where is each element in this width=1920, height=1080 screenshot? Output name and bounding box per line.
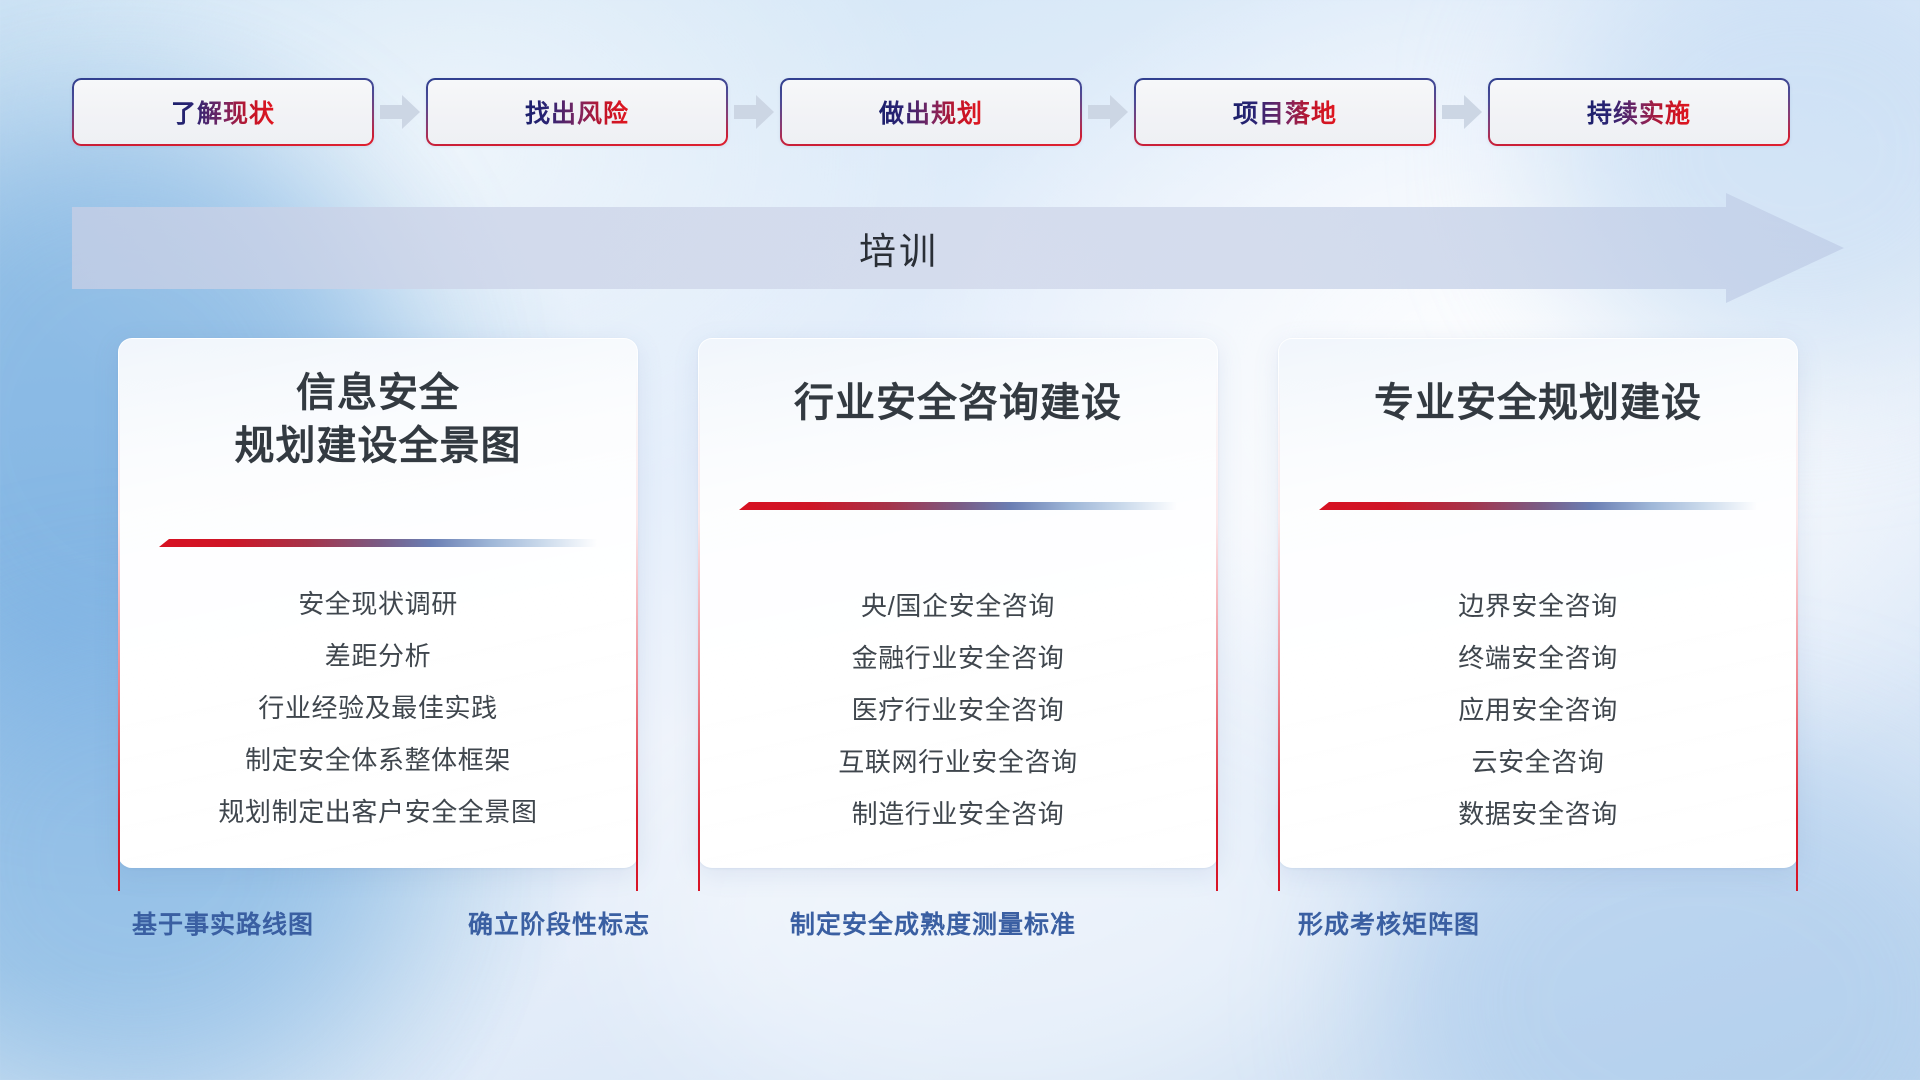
process-step-5-label: 持续实施 bbox=[1587, 94, 1691, 130]
list-item: 数据安全咨询 bbox=[1458, 797, 1618, 832]
card-3-divider bbox=[1319, 502, 1757, 510]
process-step-1[interactable]: 了解现状 bbox=[72, 78, 374, 146]
process-arrow-icon-2 bbox=[728, 78, 780, 146]
process-arrow-icon-1 bbox=[374, 78, 426, 146]
footer-label-4: 形成考核矩阵图 bbox=[1298, 905, 1480, 941]
process-step-5[interactable]: 持续实施 bbox=[1488, 78, 1790, 146]
footer-label-row: 基于事实路线图 确立阶段性标志 制定安全成熟度测量标准 形成考核矩阵图 bbox=[0, 905, 1920, 965]
process-step-4[interactable]: 项目落地 bbox=[1134, 78, 1436, 146]
card-1-divider bbox=[159, 539, 597, 547]
list-item: 互联网行业安全咨询 bbox=[838, 745, 1077, 780]
background-glow-right-top bbox=[1540, 0, 1920, 380]
process-arrow-icon-3 bbox=[1082, 78, 1134, 146]
list-item: 制定安全体系整体框架 bbox=[245, 743, 511, 778]
list-item: 医疗行业安全咨询 bbox=[852, 693, 1065, 728]
process-step-3[interactable]: 做出规划 bbox=[780, 78, 1082, 146]
card-2-list: 央/国企安全咨询 金融行业安全咨询 医疗行业安全咨询 互联网行业安全咨询 制造行… bbox=[723, 589, 1193, 832]
list-item: 应用安全咨询 bbox=[1458, 693, 1618, 728]
process-step-2-label: 找出风险 bbox=[525, 94, 629, 130]
list-item: 规划制定出客户安全全景图 bbox=[218, 795, 537, 830]
card-information-security-blueprint[interactable]: 信息安全 规划建设全景图 安全现状调研 差距分析 行业经验及最佳实践 制定安全体… bbox=[118, 338, 638, 868]
list-item: 行业经验及最佳实践 bbox=[258, 691, 497, 726]
list-item: 差距分析 bbox=[325, 639, 431, 674]
list-item: 云安全咨询 bbox=[1471, 745, 1604, 780]
process-step-1-label: 了解现状 bbox=[171, 94, 275, 130]
training-banner: 培训 bbox=[72, 193, 1844, 303]
card-1-title: 信息安全 规划建设全景图 bbox=[119, 367, 637, 473]
list-item: 安全现状调研 bbox=[298, 587, 458, 622]
process-flow: 了解现状 找出风险 做出规划 项目落地 持续实施 bbox=[72, 78, 1852, 146]
list-item: 制造行业安全咨询 bbox=[852, 797, 1065, 832]
card-1-list: 安全现状调研 差距分析 行业经验及最佳实践 制定安全体系整体框架 规划制定出客户… bbox=[143, 587, 613, 830]
process-step-4-label: 项目落地 bbox=[1233, 94, 1337, 130]
process-arrow-icon-4 bbox=[1436, 78, 1488, 146]
card-3-title-line1: 专业安全规划建设 bbox=[1279, 377, 1797, 430]
list-item: 央/国企安全咨询 bbox=[861, 589, 1055, 624]
banner-title: 培训 bbox=[72, 193, 1726, 303]
footer-label-3: 制定安全成熟度测量标准 bbox=[790, 905, 1076, 941]
footer-label-1: 基于事实路线图 bbox=[132, 905, 314, 941]
card-industry-security-consulting[interactable]: 行业安全咨询建设 央/国企安全咨询 金融行业安全咨询 医疗行业安全咨询 互联网行… bbox=[698, 338, 1218, 868]
card-2-divider bbox=[739, 502, 1177, 510]
card-1-title-line2: 规划建设全景图 bbox=[119, 420, 637, 473]
card-group: 信息安全 规划建设全景图 安全现状调研 差距分析 行业经验及最佳实践 制定安全体… bbox=[0, 338, 1920, 868]
card-professional-security-planning[interactable]: 专业安全规划建设 边界安全咨询 终端安全咨询 应用安全咨询 云安全咨询 数据安全… bbox=[1278, 338, 1798, 868]
card-2-title-line1: 行业安全咨询建设 bbox=[699, 377, 1217, 430]
process-step-2[interactable]: 找出风险 bbox=[426, 78, 728, 146]
list-item: 边界安全咨询 bbox=[1458, 589, 1618, 624]
list-item: 终端安全咨询 bbox=[1458, 641, 1618, 676]
card-3-title: 专业安全规划建设 bbox=[1279, 377, 1797, 430]
process-step-3-label: 做出规划 bbox=[879, 94, 983, 130]
card-1-title-line1: 信息安全 bbox=[119, 367, 637, 420]
card-2-title: 行业安全咨询建设 bbox=[699, 377, 1217, 430]
footer-label-2: 确立阶段性标志 bbox=[468, 905, 650, 941]
list-item: 金融行业安全咨询 bbox=[852, 641, 1065, 676]
card-3-list: 边界安全咨询 终端安全咨询 应用安全咨询 云安全咨询 数据安全咨询 bbox=[1303, 589, 1773, 832]
